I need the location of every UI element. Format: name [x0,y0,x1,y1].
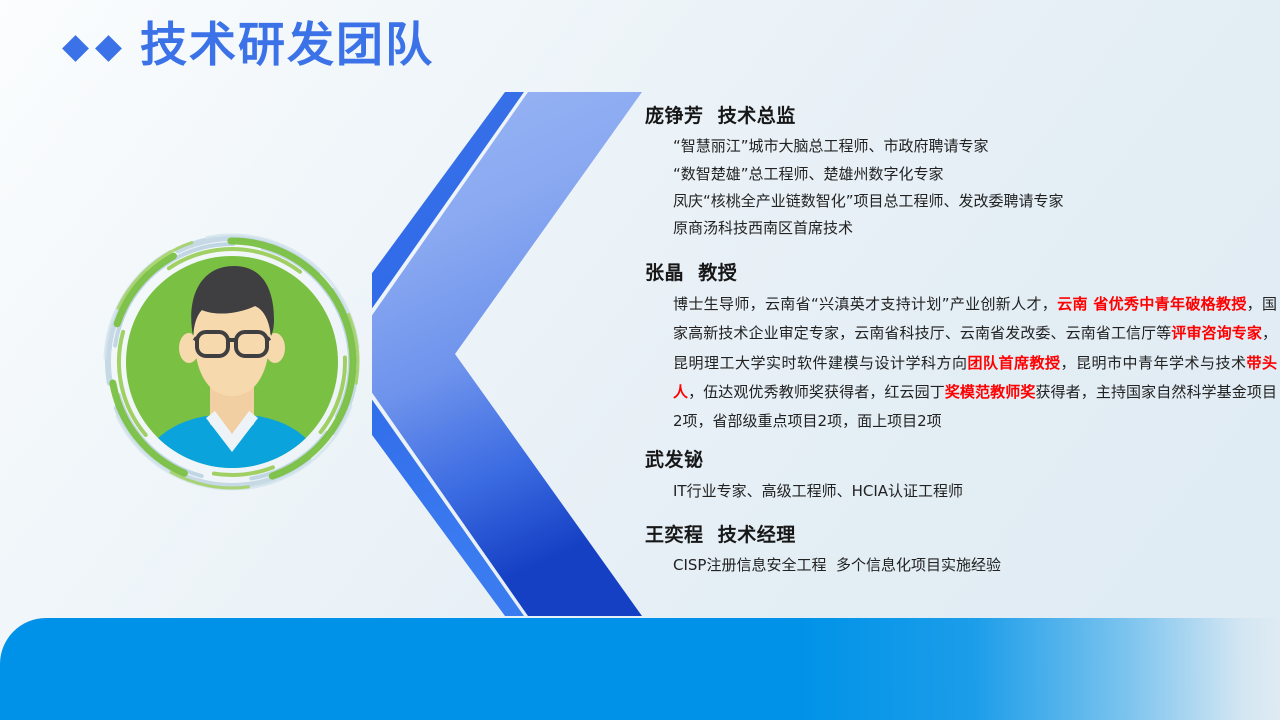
detail-line: 原商汤科技西南区首席技术 [673,215,1277,242]
plain-text: 博士生导师，云南省“兴滇英才支持计划”产业创新人才， [673,295,1057,313]
member-details: 博士生导师，云南省“兴滇英才支持计划”产业创新人才，云南 省优秀中青年破格教授，… [645,288,1277,436]
slide-canvas: 技术研发团队 [0,0,1280,720]
diamond-icon [62,35,89,62]
page-title: 技术研发团队 [140,22,434,69]
person-avatar-illustration [98,228,366,496]
member-heading: 武发铋 [645,446,1277,475]
detail-line: IT行业专家、高级工程师、HCIA认证工程师 [673,478,1277,505]
plain-text: ，伍达观优秀教师奖获得者，红云园丁 [688,383,945,401]
member-heading: 庞铮芳 技术总监 [645,102,1277,131]
avatar [98,228,366,496]
detail-line: “智慧丽江”城市大脑总工程师、市政府聘请专家 [673,133,1277,160]
team-member-entry: 武发铋 IT行业专家、高级工程师、HCIA认证工程师 [645,446,1277,505]
section-spacer [645,507,1277,521]
diamond-icon [95,35,122,62]
plain-text: ，昆明市中青年学术与技术 [1060,354,1246,372]
highlighted-text: 评审咨询专家 [1171,324,1262,342]
title-bullets [66,39,118,58]
highlighted-text: 奖模范教师奖 [945,383,1036,401]
chevron-svg [372,92,672,622]
member-details: IT行业专家、高级工程师、HCIA认证工程师 [645,476,1277,505]
detail-paragraph: 博士生导师，云南省“兴滇英才支持计划”产业创新人才，云南 省优秀中青年破格教授，… [673,290,1277,436]
detail-line: 凤庆“核桃全产业链数智化”项目总工程师、发改委聘请专家 [673,188,1277,215]
highlighted-text: 团队首席教授 [967,354,1060,372]
member-heading: 王奕程 技术经理 [645,521,1277,550]
member-details: CISP注册信息安全工程 多个信息化项目实施经验 [645,550,1277,579]
team-member-list: 庞铮芳 技术总监 “智慧丽江”城市大脑总工程师、市政府聘请专家 “数智楚雄”总工… [645,102,1277,582]
team-member-entry: 王奕程 技术经理 CISP注册信息安全工程 多个信息化项目实施经验 [645,521,1277,580]
bottom-banner [0,618,1280,720]
section-spacer [645,245,1277,259]
chevron-thick [372,92,642,616]
member-heading: 张晶 教授 [645,259,1277,288]
team-member-entry: 张晶 教授 博士生导师，云南省“兴滇英才支持计划”产业创新人才，云南 省优秀中青… [645,259,1277,437]
page-title-block: 技术研发团队 [66,22,434,69]
team-member-entry: 庞铮芳 技术总监 “智慧丽江”城市大脑总工程师、市政府聘请专家 “数智楚雄”总工… [645,102,1277,243]
highlighted-text: 云南 省优秀中青年破格教授 [1057,295,1247,313]
section-spacer [645,438,1277,446]
detail-line: CISP注册信息安全工程 多个信息化项目实施经验 [673,552,1277,579]
detail-line: “数智楚雄”总工程师、楚雄州数字化专家 [673,161,1277,188]
member-details: “智慧丽江”城市大脑总工程师、市政府聘请专家 “数智楚雄”总工程师、楚雄州数字化… [645,131,1277,242]
chevron-left-graphic [372,92,672,622]
